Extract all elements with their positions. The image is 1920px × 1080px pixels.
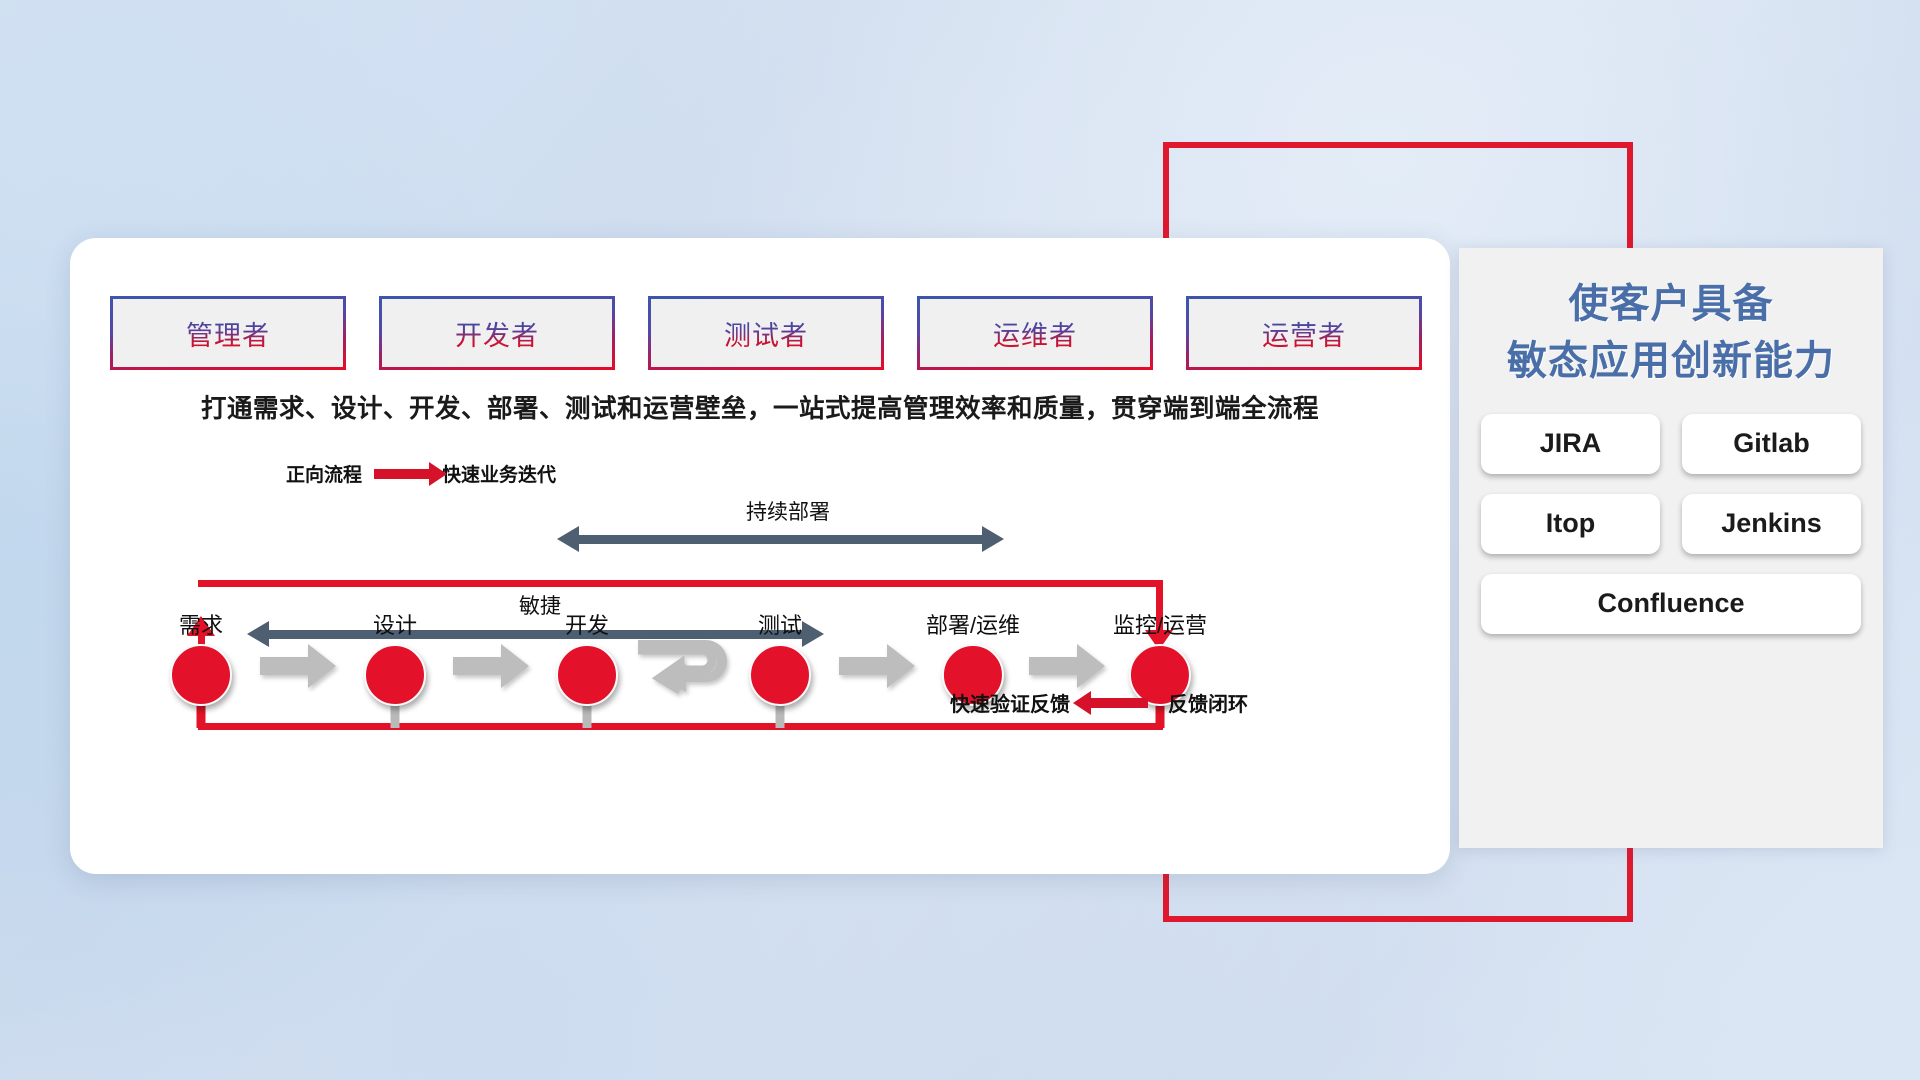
tool-button-gitlab[interactable]: Gitlab (1682, 414, 1861, 474)
pipeline-node-label: 需求 (170, 608, 232, 640)
tool-button-jira[interactable]: JIRA (1481, 414, 1660, 474)
pipeline-node-dot (364, 644, 426, 706)
role-label: 测试者 (724, 314, 808, 353)
forward-flow-left-label: 正向流程 (286, 460, 362, 487)
role-box-4[interactable]: 运营者 (1186, 296, 1422, 370)
span-arrow-continuous-deploy (578, 535, 983, 544)
feedback-legend: 快速验证反馈 反馈闭环 (950, 688, 1248, 717)
pipeline-node-design[interactable]: 设计 (364, 608, 426, 706)
panel-title-line2: 敏态应用创新能力 (1459, 333, 1883, 390)
feedback-right-label: 反馈闭环 (1168, 688, 1248, 717)
role-label: 开发者 (455, 314, 539, 353)
arrow-right-red-icon (374, 469, 430, 479)
role-box-row: 管理者 开发者 测试者 运维者 运营者 (110, 296, 1422, 370)
pipeline-node-test[interactable]: 测试 (749, 608, 811, 706)
pipeline-node-develop[interactable]: 开发 (556, 608, 618, 706)
tool-button-jenkins[interactable]: Jenkins (1682, 494, 1861, 554)
pipeline-node-dot (749, 644, 811, 706)
chevron-right-icon (1029, 644, 1105, 688)
chevron-right-icon (260, 644, 336, 688)
feedback-left-label: 快速验证反馈 (950, 688, 1070, 717)
main-card: 管理者 开发者 测试者 运维者 运营者 打通需求、设计、开发、部署、测试和运营壁… (70, 238, 1450, 874)
chevron-right-icon (839, 644, 915, 688)
tool-button-itop[interactable]: Itop (1481, 494, 1660, 554)
description-text: 打通需求、设计、开发、部署、测试和运营壁垒，一站式提高管理效率和质量，贯穿端到端… (70, 388, 1450, 425)
role-label: 管理者 (186, 314, 270, 353)
panel-title-line1: 使客户具备 (1569, 282, 1774, 326)
arrow-left-red-icon (1090, 698, 1148, 708)
loop-back-arrow-icon (636, 638, 730, 694)
pipeline-node-dot (170, 644, 232, 706)
span-label-continuous-deploy: 持续部署 (746, 496, 830, 526)
pipeline-node-label: 设计 (364, 608, 426, 640)
pipeline-node-label: 测试 (749, 608, 811, 640)
pipeline: 需求 设计 开发 测试 部署/运维 监控/运营 (70, 608, 1450, 748)
forward-flow-right-label: 快速业务迭代 (442, 460, 556, 487)
tool-button-confluence[interactable]: Confluence (1481, 574, 1861, 634)
pipeline-node-dot (556, 644, 618, 706)
role-label: 运维者 (993, 314, 1077, 353)
forward-flow-legend: 正向流程 快速业务迭代 (286, 460, 556, 487)
role-box-3[interactable]: 运维者 (917, 296, 1153, 370)
right-panel: 使客户具备 敏态应用创新能力 JIRA Gitlab Itop Jenkins … (1459, 248, 1883, 848)
slide-canvas: 管理者 开发者 测试者 运维者 运营者 打通需求、设计、开发、部署、测试和运营壁… (0, 0, 1920, 1080)
role-label: 运营者 (1262, 314, 1346, 353)
tool-button-grid: JIRA Gitlab Itop Jenkins Confluence (1459, 390, 1883, 634)
chevron-right-icon (453, 644, 529, 688)
pipeline-node-requirement[interactable]: 需求 (170, 608, 232, 706)
panel-title: 使客户具备 敏态应用创新能力 (1459, 276, 1883, 390)
pipeline-node-label: 开发 (556, 608, 618, 640)
role-box-0[interactable]: 管理者 (110, 296, 346, 370)
pipeline-node-label: 部署/运维 (926, 608, 1020, 640)
pipeline-node-label: 监控/运营 (1113, 608, 1207, 640)
role-box-1[interactable]: 开发者 (379, 296, 615, 370)
role-box-2[interactable]: 测试者 (648, 296, 884, 370)
loop-line-top (198, 580, 1163, 587)
